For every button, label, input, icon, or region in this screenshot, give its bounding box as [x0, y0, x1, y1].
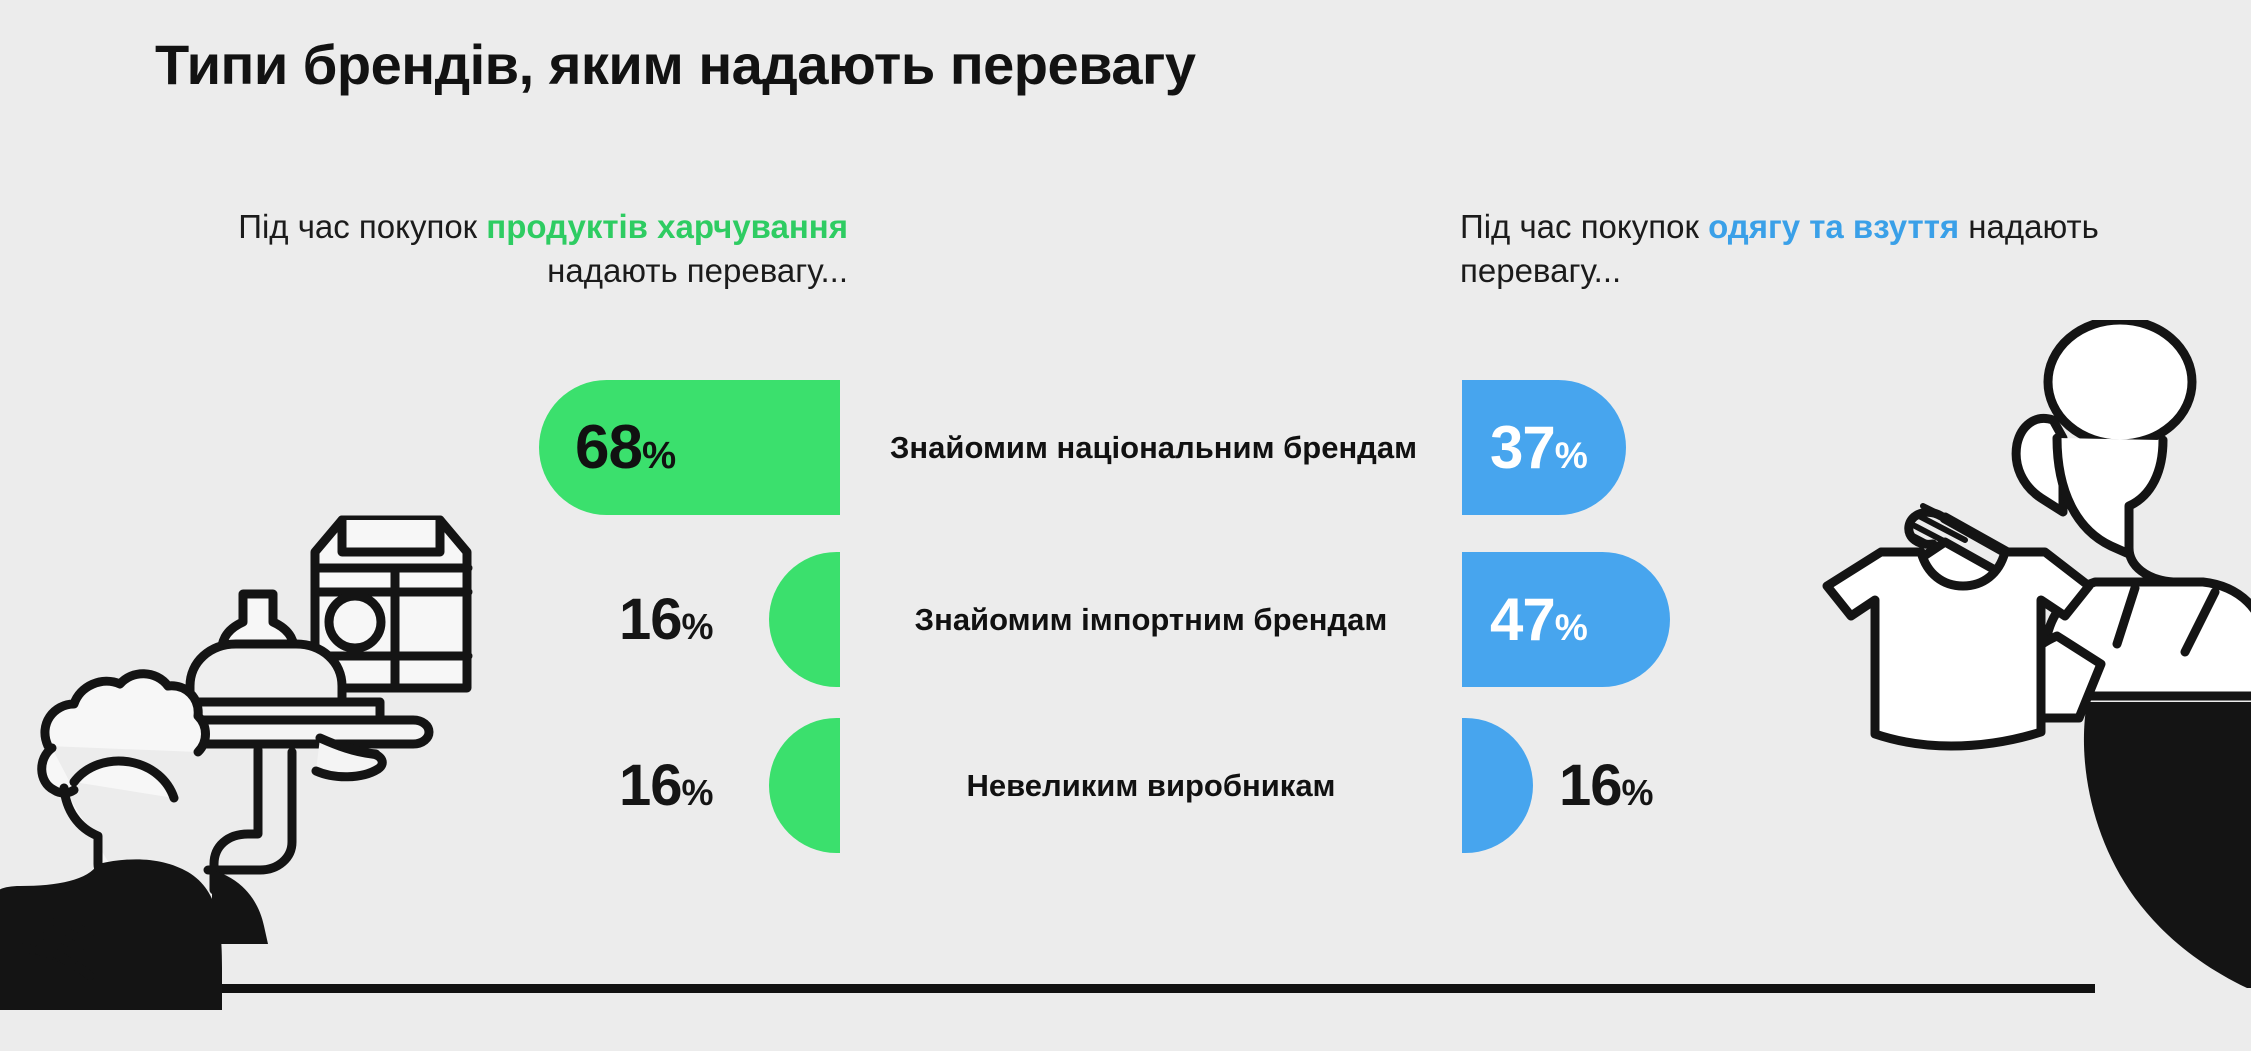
right-subtitle-highlight: одягу та взуття	[1708, 208, 1959, 245]
value-blue-1: 47%	[1490, 552, 1587, 687]
right-column-subtitle: Під час покупок одягу та взуття надають …	[1460, 205, 2100, 293]
left-column-subtitle: Під час покупок продуктів харчування над…	[168, 205, 848, 293]
infographic-canvas: Типи брендів, яким надають перевагу Під …	[0, 0, 2251, 1051]
left-subtitle-prefix: Під час покупок	[238, 208, 486, 245]
value-green-1: 16%	[619, 552, 712, 687]
page-title: Типи брендів, яким надають перевагу	[155, 32, 1195, 97]
bar-green-1	[769, 552, 840, 687]
category-label-2: Невеликим виробникам	[890, 718, 1412, 853]
value-blue-2: 16%	[1559, 718, 1652, 853]
illustration-clothing-person	[1795, 320, 2251, 1000]
value-green-2: 16%	[619, 718, 712, 853]
value-blue-0: 37%	[1490, 380, 1587, 515]
category-label-1: Знайомим імпортним брендам	[890, 552, 1412, 687]
left-subtitle-suffix: надають перевагу...	[547, 252, 848, 289]
value-green-0: 68%	[575, 380, 675, 515]
bar-green-2	[769, 718, 840, 853]
left-subtitle-highlight: продуктів харчування	[486, 208, 848, 245]
right-subtitle-prefix: Під час покупок	[1460, 208, 1708, 245]
category-label-0: Знайомим національним брендам	[890, 380, 1412, 515]
bar-blue-2	[1462, 718, 1533, 853]
illustration-grocery-person	[0, 470, 510, 1050]
